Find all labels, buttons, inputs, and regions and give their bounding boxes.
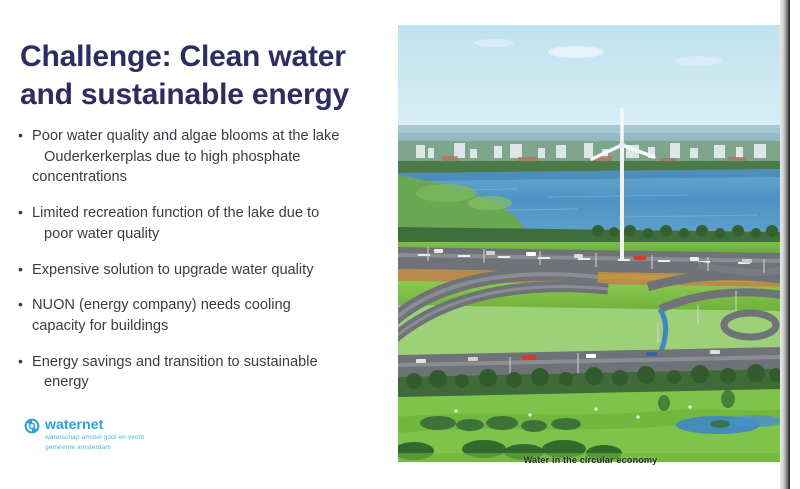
list-item: • Expensive solution to upgrade water qu… bbox=[12, 260, 390, 281]
bullet-list: • Poor water quality and algae blooms at… bbox=[12, 126, 390, 408]
list-item-text: Expensive solution to upgrade water qual… bbox=[32, 260, 390, 281]
page-title: Challenge: Clean water and sustainable e… bbox=[20, 38, 380, 115]
presentation-slide: Challenge: Clean water and sustainable e… bbox=[0, 0, 790, 489]
bullet-marker-icon: • bbox=[18, 203, 23, 223]
bullet-marker-icon: • bbox=[18, 260, 23, 280]
list-item: • NUON (energy company) needs cooling ca… bbox=[12, 295, 390, 336]
slide-text-column: Challenge: Clean water and sustainable e… bbox=[0, 0, 392, 489]
logo-wordmark: waternet bbox=[45, 416, 103, 432]
list-item-line: energy bbox=[32, 372, 390, 393]
list-item-line: poor water quality bbox=[32, 224, 390, 245]
logo-tagline-line-1: waterschap amstel gooi en vecht bbox=[45, 433, 144, 443]
list-item-line: capacity for buildings bbox=[32, 316, 390, 337]
list-item-text: Energy savings and transition to sustain… bbox=[32, 352, 390, 393]
list-item-text: Limited recreation function of the lake … bbox=[32, 203, 390, 244]
waternet-swirl-icon bbox=[24, 418, 40, 434]
list-item-line: Poor water quality and algae blooms at t… bbox=[32, 126, 390, 147]
list-item-line: Expensive solution to upgrade water qual… bbox=[32, 260, 390, 281]
list-item: • Limited recreation function of the lak… bbox=[12, 203, 390, 244]
bullet-marker-icon: • bbox=[18, 295, 23, 315]
logo-tagline-line-2: gemeente amsterdam bbox=[45, 443, 144, 453]
list-item-text: NUON (energy company) needs cooling capa… bbox=[32, 295, 390, 336]
list-item-line: Energy savings and transition to sustain… bbox=[32, 352, 390, 373]
title-line-2: and sustainable energy bbox=[20, 76, 380, 114]
page-edge-shadow bbox=[780, 0, 790, 489]
list-item-text: Poor water quality and algae blooms at t… bbox=[32, 126, 390, 188]
bullet-marker-icon: • bbox=[18, 352, 23, 372]
list-item-line: concentrations bbox=[32, 167, 390, 188]
logo-tagline: waterschap amstel gooi en vecht gemeente… bbox=[45, 433, 144, 453]
list-item: • Poor water quality and algae blooms at… bbox=[12, 126, 390, 188]
list-item-line: Ouderkerkerplas due to high phosphate bbox=[32, 147, 390, 168]
list-item-line: NUON (energy company) needs cooling bbox=[32, 295, 390, 316]
bullet-marker-icon: • bbox=[18, 126, 23, 146]
aerial-landscape-photo bbox=[398, 25, 783, 462]
list-item-line: Limited recreation function of the lake … bbox=[32, 203, 390, 224]
list-item: • Energy savings and transition to susta… bbox=[12, 352, 390, 393]
title-line-1: Challenge: Clean water bbox=[20, 38, 380, 76]
photo-caption: Water in the circular economy bbox=[398, 454, 783, 468]
waternet-logo: waternet waterschap amstel gooi en vecht… bbox=[24, 417, 224, 453]
